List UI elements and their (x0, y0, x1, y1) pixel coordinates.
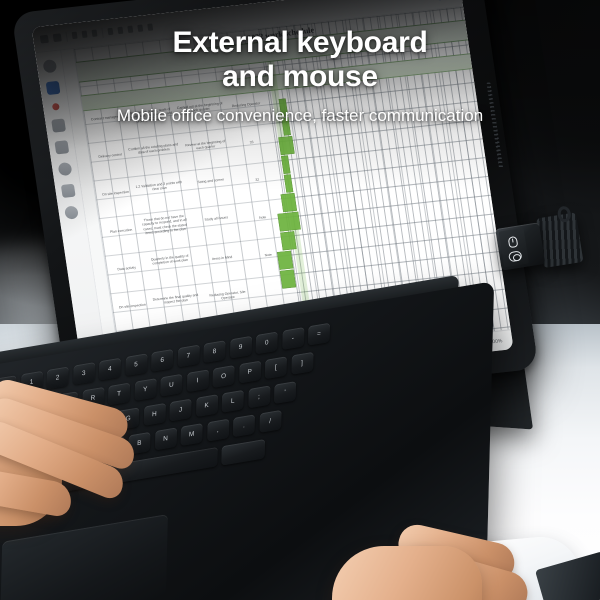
gantt-bar (280, 269, 297, 288)
key-4[interactable]: 4 (99, 358, 121, 381)
share-icon[interactable] (435, 0, 445, 1)
key-][interactable]: ] (291, 352, 313, 375)
settings-icon[interactable] (61, 184, 76, 198)
key--[interactable]: - (282, 327, 304, 350)
apps-icon[interactable] (54, 140, 69, 154)
key-2[interactable]: 2 (46, 366, 68, 389)
dongle-body (495, 222, 545, 270)
redo-icon[interactable] (53, 33, 62, 42)
undo-icon[interactable] (40, 34, 49, 43)
key-0[interactable]: 0 (256, 331, 278, 354)
files-icon[interactable] (42, 59, 57, 73)
hand-on-keyboard (0, 388, 180, 558)
key-[[interactable]: [ (265, 356, 287, 379)
brand-logo-icon (508, 250, 522, 262)
key-8[interactable]: 8 (203, 340, 225, 363)
align-icon[interactable] (127, 26, 133, 33)
fill-icon[interactable] (147, 23, 153, 30)
notify-badge-icon[interactable] (52, 103, 60, 111)
key-5[interactable]: 5 (125, 353, 147, 376)
key-m[interactable]: M (181, 423, 203, 446)
key-7[interactable]: 7 (177, 345, 199, 368)
chart-icon[interactable] (58, 162, 73, 176)
key-o[interactable]: O (212, 365, 234, 388)
key-9[interactable]: 9 (229, 336, 251, 359)
format-icon[interactable] (82, 31, 88, 38)
key-cmd[interactable] (221, 439, 265, 466)
key-;[interactable]: ; (248, 385, 270, 408)
key-'[interactable]: ' (274, 381, 296, 404)
promo-image: 2022 work schedule Contract manager Dete… (0, 0, 600, 600)
palm (332, 546, 482, 600)
key-6[interactable]: 6 (151, 349, 173, 372)
gantt-bar (280, 193, 297, 212)
home-icon[interactable] (51, 118, 66, 132)
hand-on-mouse (398, 516, 600, 600)
brand-icon[interactable] (46, 81, 61, 95)
border-icon[interactable] (137, 24, 143, 31)
print-icon[interactable] (72, 32, 78, 39)
key-k[interactable]: K (196, 394, 218, 417)
key-p[interactable]: P (239, 361, 261, 384)
italic-icon[interactable] (117, 27, 123, 34)
key-3[interactable]: 3 (73, 362, 95, 385)
key-i[interactable]: I (186, 369, 208, 392)
bold-icon[interactable] (107, 28, 113, 35)
key-.[interactable]: . (233, 414, 255, 437)
toolbar-divider (101, 27, 103, 37)
font-icon[interactable] (92, 29, 98, 36)
key-,[interactable]: , (207, 419, 229, 442)
user-icon[interactable] (64, 205, 79, 219)
gantt-bar (280, 231, 297, 250)
key-/[interactable]: / (259, 410, 281, 433)
bluetooth-pair-icon (508, 236, 519, 248)
gantt-bar (278, 136, 295, 155)
gantt-bar (277, 212, 301, 232)
key-l[interactable]: L (222, 390, 244, 413)
toolbar-divider (65, 31, 67, 41)
dongle-face (499, 228, 529, 267)
key-=[interactable]: = (308, 323, 330, 346)
